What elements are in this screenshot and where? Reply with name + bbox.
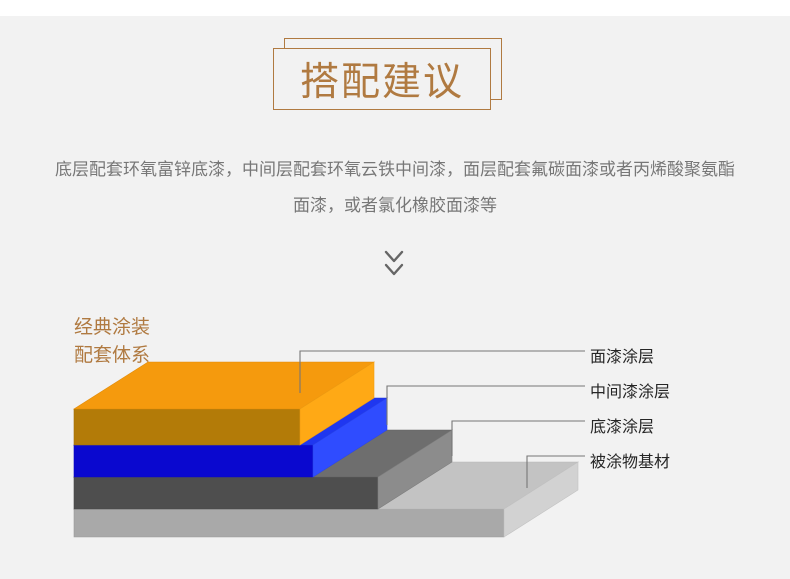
leader-line-intermediate [387,386,585,425]
layer-label-intermediate: 中间漆涂层 [590,378,670,402]
leader-line-primer [452,421,585,456]
page-root: 搭配建议 底层配套环氧富锌底漆，中间层配套环氧云铁中间漆，面层配套氟碳面漆或者丙… [0,0,790,579]
substrate-front-face [74,509,504,537]
layer-label-substrate: 被涂物基材 [590,448,670,472]
topcoat-front-face [74,409,300,445]
primer-front-face [74,477,378,509]
layer-label-primer: 底漆涂层 [590,413,654,437]
layer-label-topcoat: 面漆涂层 [590,343,654,367]
coating-system-diagram [0,0,790,579]
intermediate-front-face [74,445,313,477]
